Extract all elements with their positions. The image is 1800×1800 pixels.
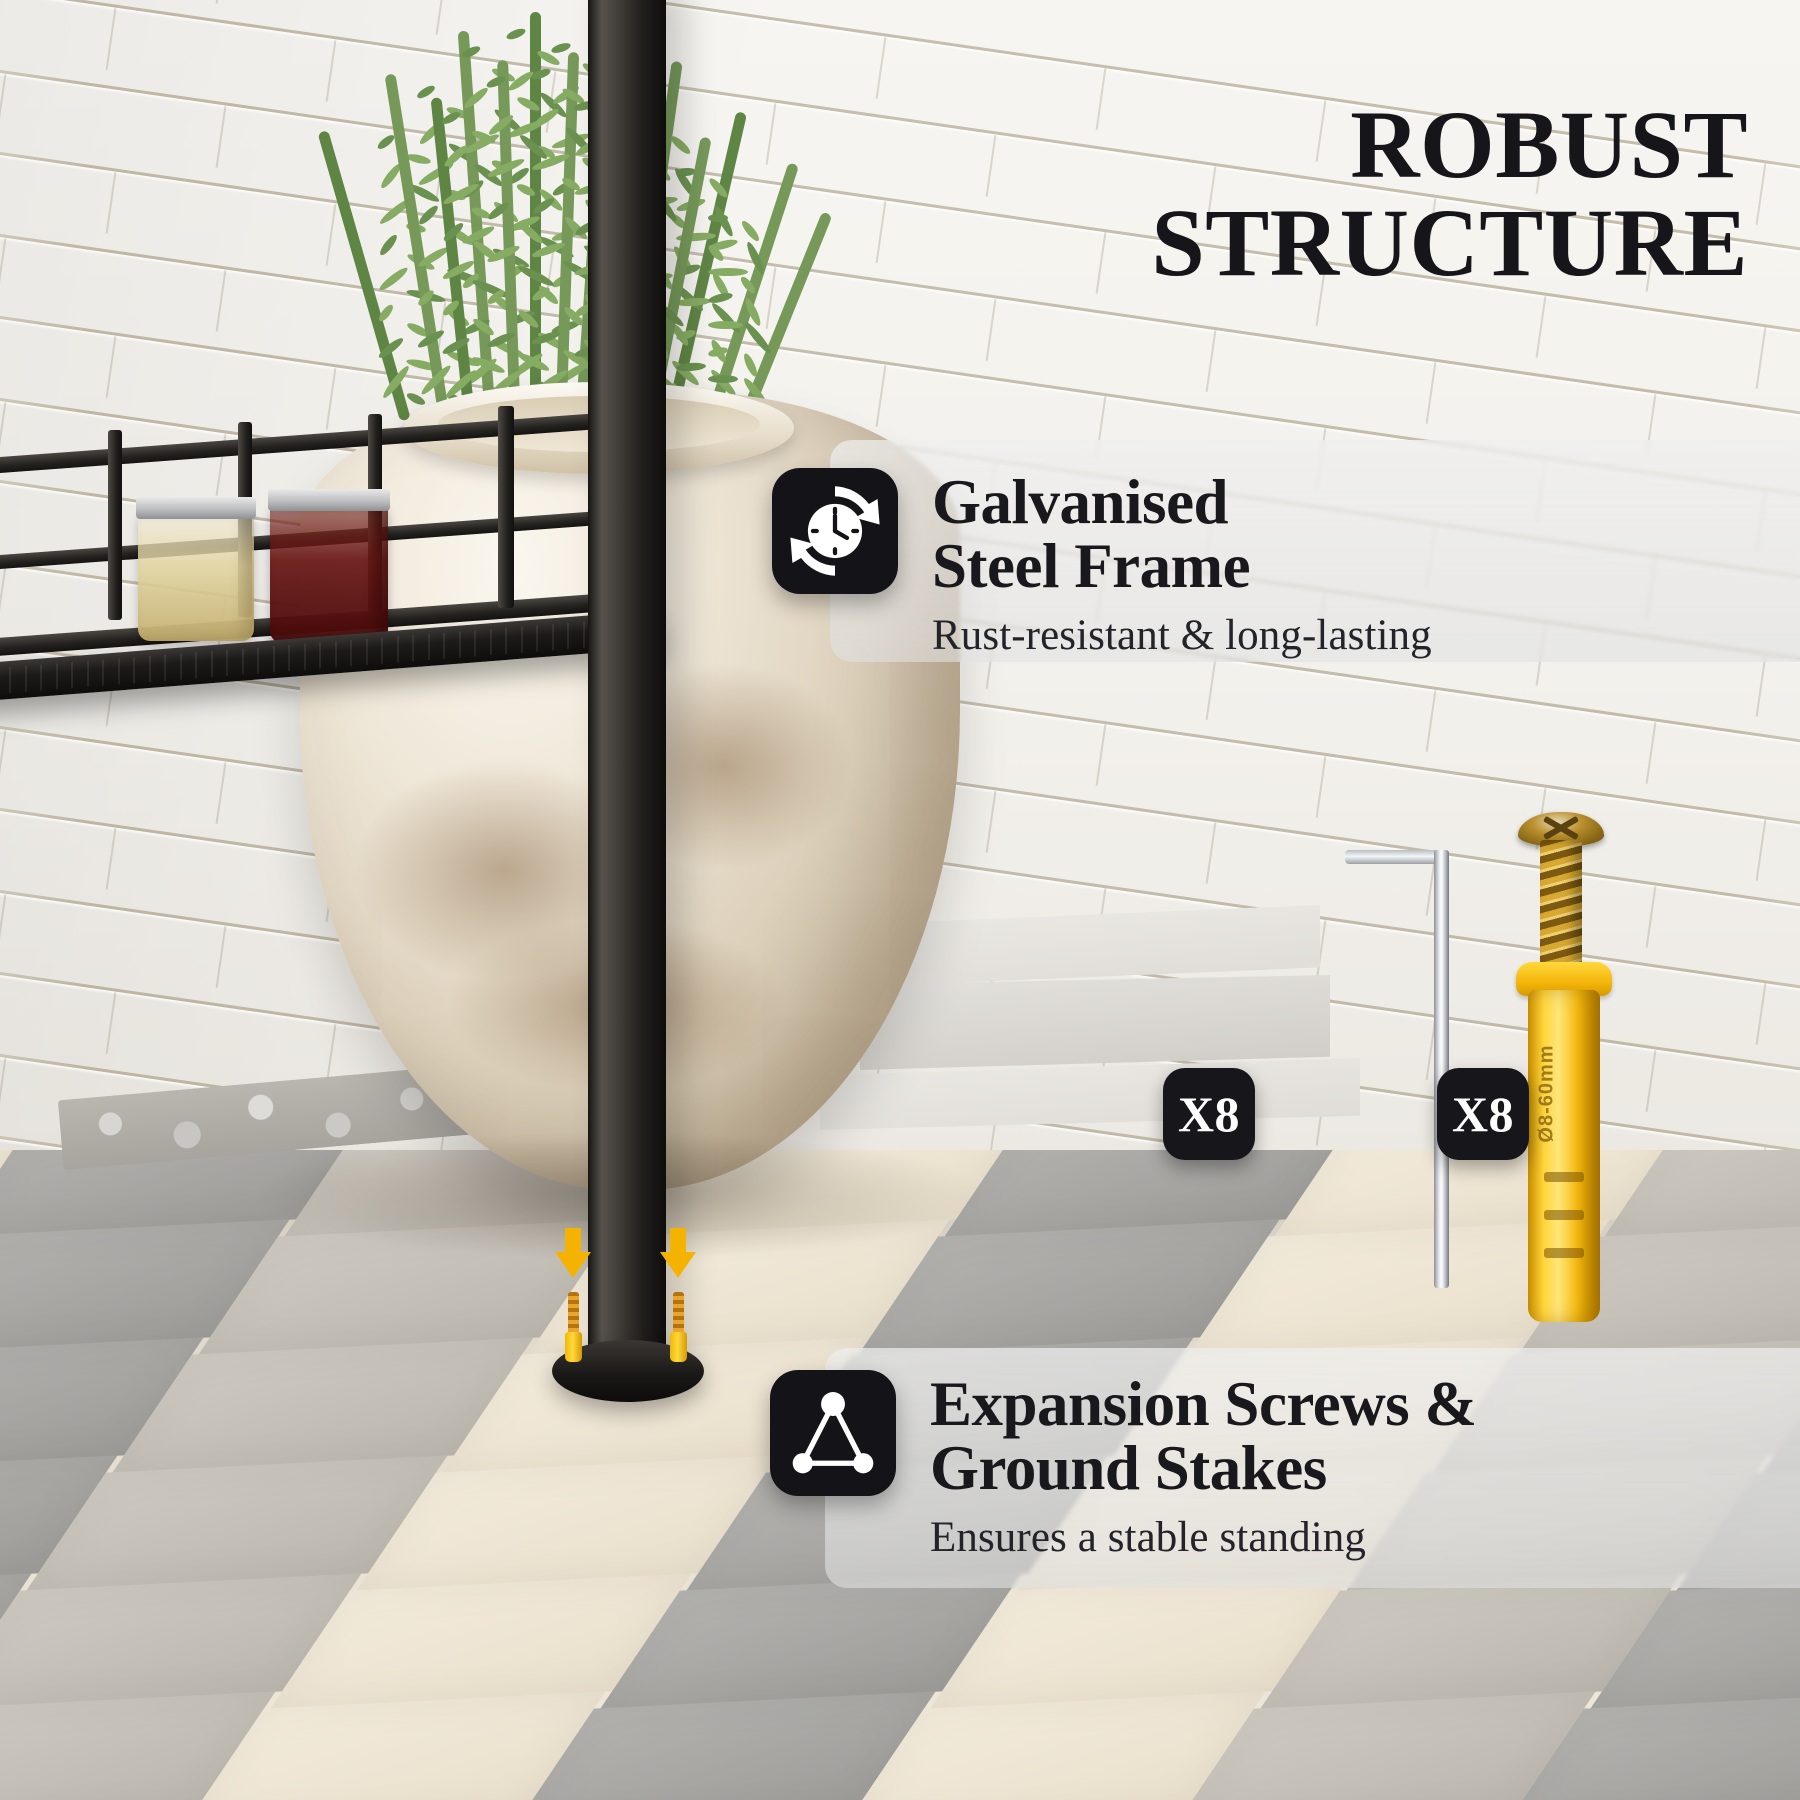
screw-thread [1540, 840, 1582, 980]
glass-jar-dark [270, 505, 388, 643]
ground-stake-quantity-badge: X8 [1163, 1068, 1255, 1160]
plant-leaf [740, 219, 762, 243]
feature-galvanised-steel-frame: Galvanised Steel Frame Rust-resistant & … [772, 468, 1782, 660]
plant-leaf [708, 375, 738, 383]
feature-galvanised-text: Galvanised Steel Frame Rust-resistant & … [932, 468, 1432, 660]
plant-leaf [505, 27, 527, 42]
expansion-screw-quantity-badge: X8 [1437, 1068, 1529, 1160]
glass-jar-light [138, 513, 254, 641]
plant-leaf [742, 352, 760, 378]
feature-galvanised-subtitle: Rust-resistant & long-lasting [932, 611, 1432, 660]
plant-leaf [417, 204, 440, 227]
base-screw-left [565, 1292, 582, 1362]
plant-leaf [550, 41, 571, 55]
glass-jar-dark-lid [268, 489, 390, 511]
plant-leaf [708, 214, 728, 222]
pergola-support-post [588, 0, 666, 1380]
feature-expansion-subtitle: Ensures a stable standing [930, 1513, 1476, 1562]
feature-galvanised-title: Galvanised Steel Frame [932, 470, 1432, 599]
wall-plug-size-label: Ø8-60mm [1536, 979, 1559, 1209]
glass-jar-light-lid [136, 497, 256, 519]
yellow-wall-plug: Ø8-60mm [1516, 962, 1612, 1322]
allen-key-ground-stake [1345, 828, 1475, 1288]
plant-leaf [707, 291, 733, 305]
plant-leaf [669, 134, 693, 157]
product-feature-image: ROBUST STRUCTURE Ga [0, 0, 1800, 1800]
base-screw-right [670, 1292, 687, 1362]
ground-stake-quantity-label: X8 [1178, 1085, 1240, 1143]
durability-clock-arrows-icon [772, 468, 898, 594]
stability-triangle-icon [770, 1370, 896, 1496]
feature-expansion-text: Expansion Screws & Ground Stakes Ensures… [930, 1370, 1476, 1562]
expansion-screw-with-wall-plug: Ø8-60mm [1488, 812, 1638, 1322]
plant-leaf [440, 110, 461, 126]
plant-leaf [708, 268, 748, 276]
plant-leaf [378, 232, 400, 257]
patio-step-riser [860, 975, 1330, 1070]
plant-leaf [708, 321, 743, 329]
expansion-screw-quantity-label: X8 [1452, 1085, 1514, 1143]
feature-expansion-title: Expansion Screws & Ground Stakes [930, 1372, 1476, 1501]
plant-leaf [676, 297, 711, 307]
pergola-side-shelf [0, 405, 690, 735]
page-title: ROBUST STRUCTURE [828, 96, 1748, 292]
feature-expansion-screws: Expansion Screws & Ground Stakes Ensures… [770, 1370, 1790, 1562]
plant-leaf [377, 265, 410, 293]
plant-leaf [377, 303, 396, 324]
